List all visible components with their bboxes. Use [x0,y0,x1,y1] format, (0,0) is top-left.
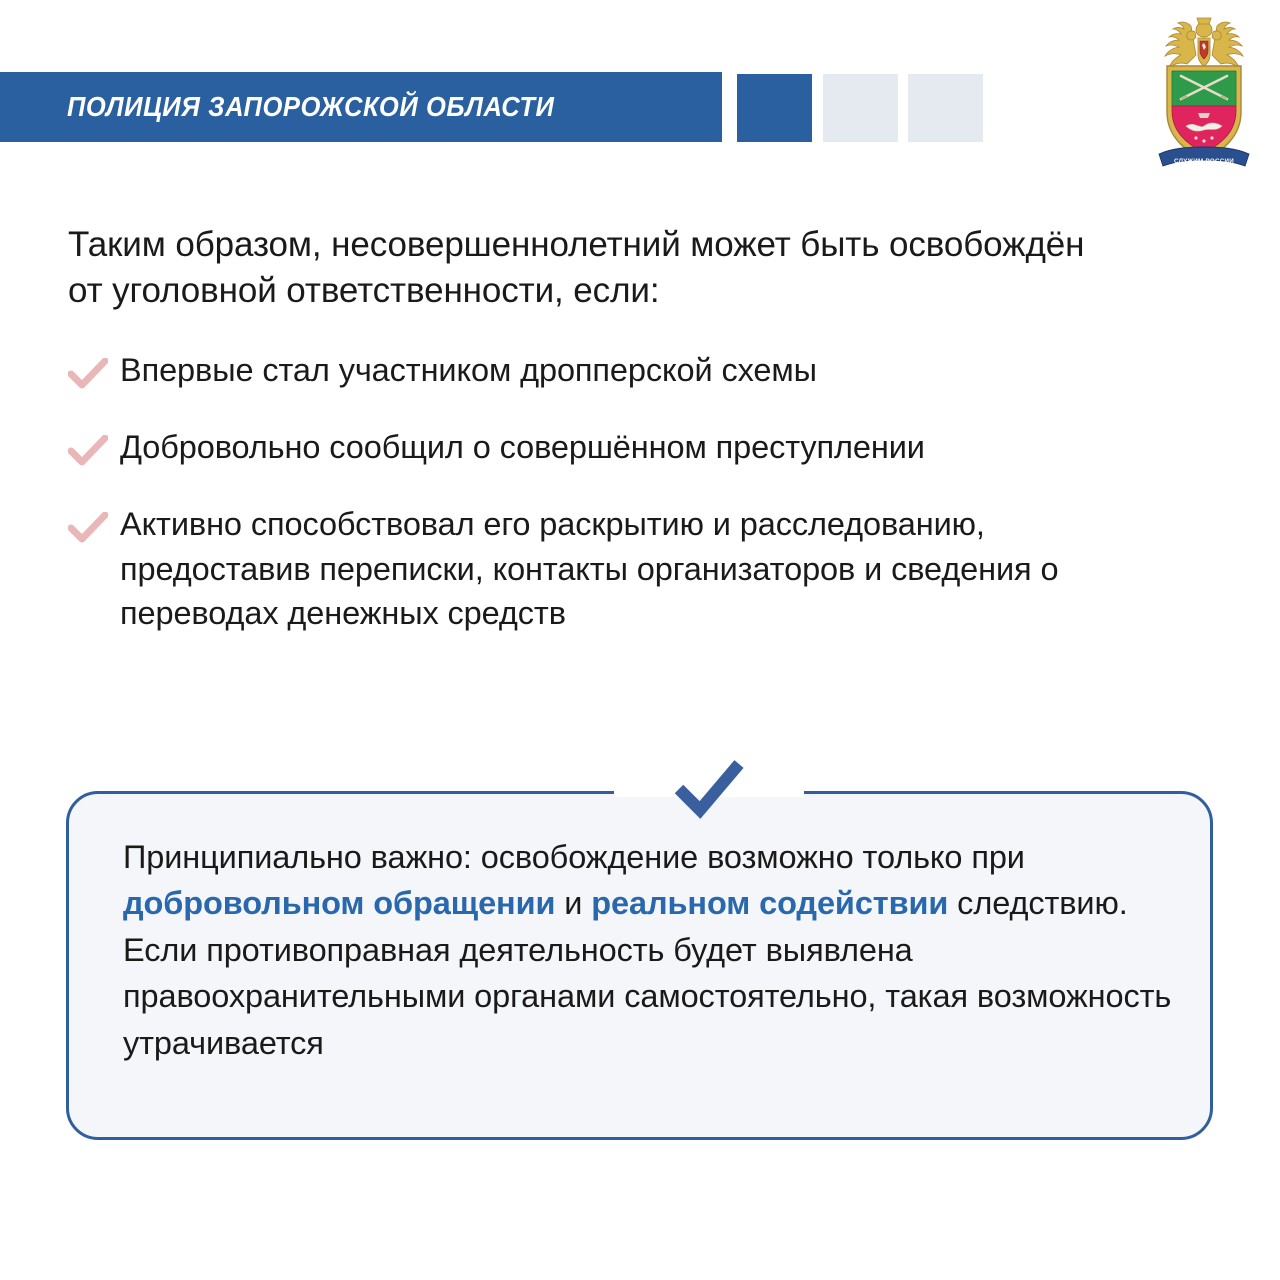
important-callout-box: Принципиально важно: освобождение возмож… [66,791,1213,1140]
intro-paragraph: Таким образом, несовершеннолетний может … [68,222,1128,314]
list-item: Добровольно сообщил о совершённом престу… [68,425,1168,470]
check-icon [68,425,120,467]
callout-paragraph: Принципиально важно: освобождение возмож… [123,834,1178,1066]
police-emblem-icon: СЛУЖИМ РОССИИ СЛУЖИМ ЗАКОНУ [1151,14,1257,176]
header-accent-square-grey-1 [823,74,898,142]
header-banner: ПОЛИЦИЯ ЗАПОРОЖСКОЙ ОБЛАСТИ [0,72,722,142]
check-icon [68,348,120,390]
list-item: Впервые стал участником дропперской схем… [68,348,1168,393]
page-header: ПОЛИЦИЯ ЗАПОРОЖСКОЙ ОБЛАСТИ [0,72,1280,142]
list-item-label: Добровольно сообщил о совершённом престу… [120,425,925,470]
check-icon [673,757,745,819]
callout-segment: Принципиально важно: освобождение возмож… [123,839,1025,875]
conditions-list: Впервые стал участником дропперской схем… [68,348,1168,668]
svg-text:СЛУЖИМ ЗАКОНУ: СЛУЖИМ ЗАКОНУ [1175,165,1234,172]
list-item: Активно способствовал его раскрытию и ра… [68,502,1168,637]
list-item-label: Впервые стал участником дропперской схем… [120,348,817,393]
list-item-label: Активно способствовал его раскрытию и ра… [120,502,1168,637]
header-accent-square-blue [737,74,812,142]
header-title: ПОЛИЦИЯ ЗАПОРОЖСКОЙ ОБЛАСТИ [0,91,554,123]
callout-highlight: добровольном обращении [123,885,555,921]
header-accent-square-grey-2 [908,74,983,142]
callout-highlight: реальном содействии [591,885,948,921]
check-icon [68,502,120,544]
callout-segment: и [555,885,591,921]
